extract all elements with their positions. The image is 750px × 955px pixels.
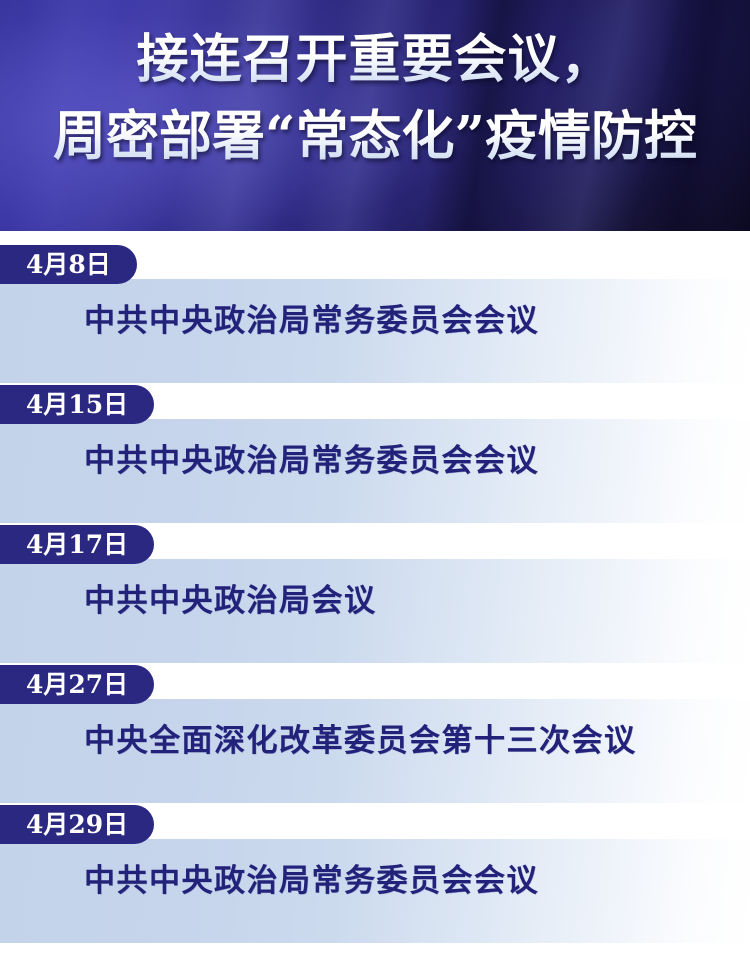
timeline-row: 4月15日 中共中央政治局常务委员会会议: [0, 385, 750, 525]
meeting-name: 中央全面深化改革委员会第十三次会议: [84, 721, 637, 761]
date-badge: 4月29日: [0, 805, 154, 844]
meeting-name: 中共中央政治局常务委员会会议: [84, 301, 539, 341]
date-badge: 4月8日: [0, 245, 137, 284]
meeting-name: 中共中央政治局常务委员会会议: [84, 441, 539, 481]
date-badge: 4月15日: [0, 385, 154, 424]
meeting-name: 中共中央政治局常务委员会会议: [84, 861, 539, 901]
timeline-row: 4月29日 中共中央政治局常务委员会会议: [0, 805, 750, 945]
page-title-line-1: 接连召开重要会议，: [0, 22, 750, 98]
date-badge-label: 4月27日: [26, 672, 128, 697]
timeline-row: 4月8日 中共中央政治局常务委员会会议: [0, 245, 750, 385]
date-badge-label: 4月15日: [26, 392, 128, 417]
timeline-row: 4月27日 中央全面深化改革委员会第十三次会议: [0, 665, 750, 805]
timeline-row: 4月17日 中共中央政治局会议: [0, 525, 750, 665]
date-badge-label: 4月29日: [26, 812, 128, 837]
date-badge: 4月27日: [0, 665, 154, 704]
timeline-list: 4月8日 中共中央政治局常务委员会会议 4月15日 中共中央政治局常务委员会会议…: [0, 231, 750, 955]
poster-header: 接连召开重要会议， 周密部署“常态化”疫情防控: [0, 0, 750, 231]
page-title: 接连召开重要会议， 周密部署“常态化”疫情防控: [0, 22, 750, 174]
infographic-poster: 接连召开重要会议， 周密部署“常态化”疫情防控 4月8日 中共中央政治局常务委员…: [0, 0, 750, 955]
date-badge: 4月17日: [0, 525, 154, 564]
date-badge-label: 4月8日: [26, 252, 111, 277]
page-title-line-2: 周密部署“常态化”疫情防控: [0, 98, 750, 174]
meeting-name: 中共中央政治局会议: [84, 581, 377, 621]
date-badge-label: 4月17日: [26, 532, 128, 557]
